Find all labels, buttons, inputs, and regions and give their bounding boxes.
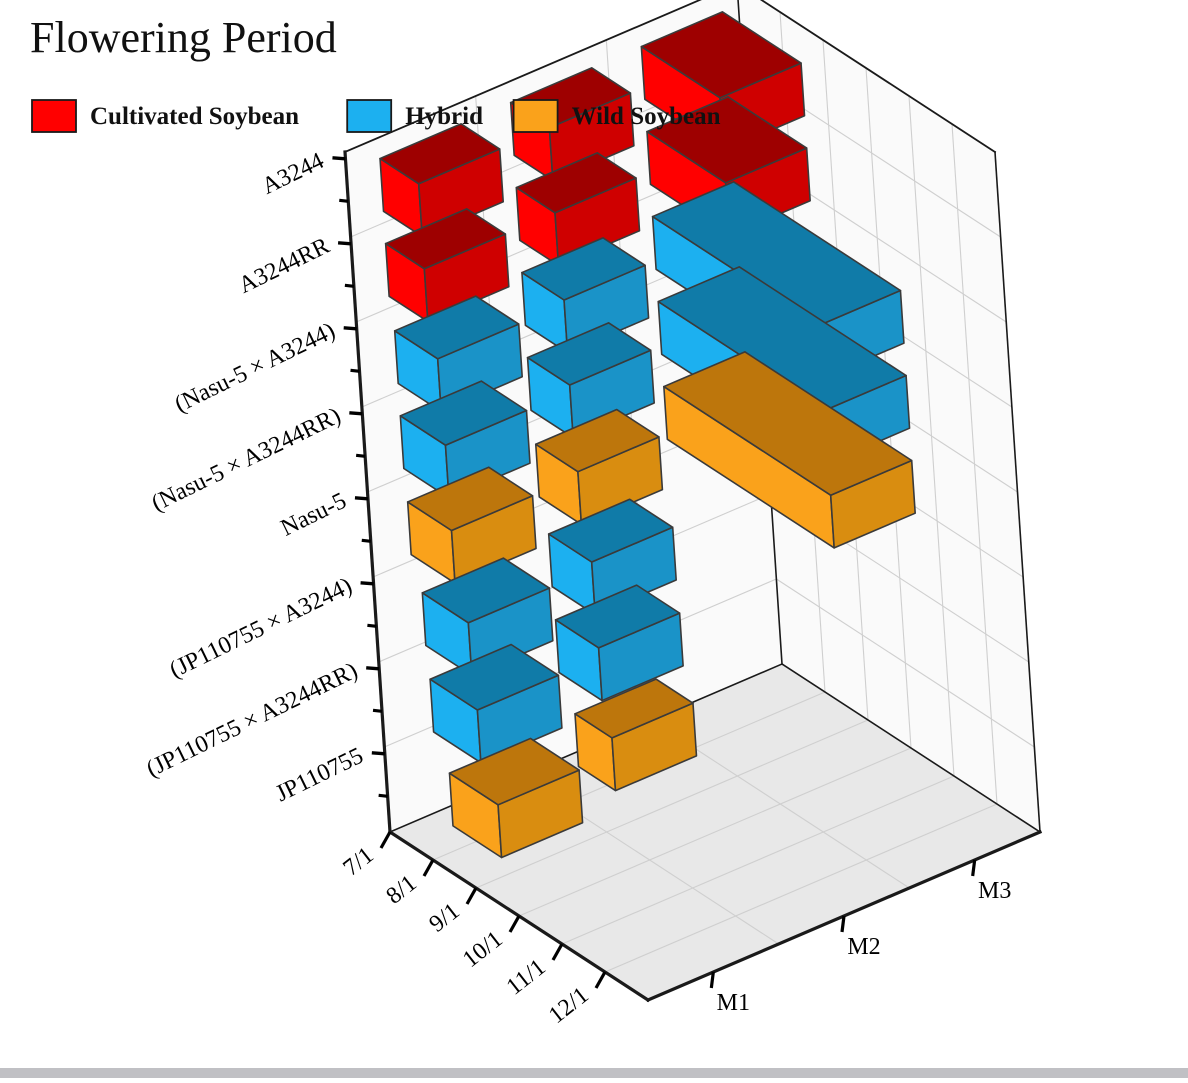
tick-z-1 (842, 916, 844, 932)
chart-title: Flowering Period (30, 13, 337, 62)
legend-label-hybrid: Hybrid (405, 103, 483, 130)
tick-y-minor-4 (362, 540, 371, 541)
z-tick-label: M3 (978, 878, 1011, 904)
legend-swatch-cultivated (32, 100, 76, 132)
x-tick-label: 11/1 (502, 954, 551, 1000)
legend-item-hybrid[interactable]: Hybrid (347, 100, 483, 132)
tick-x-2 (467, 888, 476, 904)
tick-y-minor-5 (367, 625, 376, 626)
tick-y-3 (349, 413, 362, 414)
legend-label-cultivated: Cultivated Soybean (90, 103, 299, 130)
legend-swatch-hybrid (347, 100, 391, 132)
y-tick-label: Nasu-5 (277, 488, 351, 542)
y-tick-label: (JP110755 × A3244) (166, 573, 357, 684)
y-tick-label: (Nasu-5 × A3244) (171, 318, 340, 418)
tick-y-1 (338, 243, 351, 244)
tick-z-2 (973, 860, 975, 876)
tick-y-minor-2 (351, 370, 360, 371)
tick-y-0 (332, 158, 345, 159)
tick-y-6 (366, 668, 379, 669)
x-tick-label: 7/1 (339, 842, 379, 881)
tick-y-minor-6 (373, 710, 382, 711)
tick-y-7 (372, 753, 385, 754)
legend-swatch-wild (514, 100, 558, 132)
window-bottom-strip (0, 1068, 1188, 1078)
tick-y-minor-3 (356, 455, 365, 456)
flowering-period-chart: 7/18/19/110/111/112/1M1M2M3A3244A3244RR(… (0, 0, 1188, 1078)
legend-item-wild[interactable]: Wild Soybean (514, 100, 721, 132)
x-tick-label: 9/1 (425, 898, 465, 937)
tick-y-minor-7 (379, 795, 388, 796)
y-tick-label: A3244 (258, 148, 328, 200)
x-tick-label: 8/1 (382, 870, 422, 909)
legend-label-wild: Wild Soybean (572, 103, 721, 130)
tick-y-minor-1 (345, 285, 354, 286)
z-tick-label: M2 (847, 934, 880, 960)
x-tick-label: 12/1 (544, 982, 594, 1029)
tick-y-4 (355, 498, 368, 499)
chart-canvas: 7/18/19/110/111/112/1M1M2M3A3244A3244RR(… (0, 0, 1188, 1078)
z-tick-label: M1 (717, 990, 750, 1016)
tick-x-4 (553, 944, 562, 960)
tick-z-0 (711, 972, 713, 988)
tick-x-5 (596, 972, 605, 988)
tick-x-0 (381, 832, 390, 848)
tick-x-1 (424, 860, 433, 876)
tick-y-2 (344, 328, 357, 329)
y-tick-label: A3244RR (235, 233, 334, 299)
y-tick-label: JP110755 (272, 743, 368, 807)
legend-item-cultivated[interactable]: Cultivated Soybean (32, 100, 299, 132)
tick-y-minor-0 (339, 200, 348, 201)
tick-x-3 (510, 916, 519, 932)
x-tick-label: 10/1 (458, 926, 508, 973)
tick-y-5 (361, 583, 374, 584)
